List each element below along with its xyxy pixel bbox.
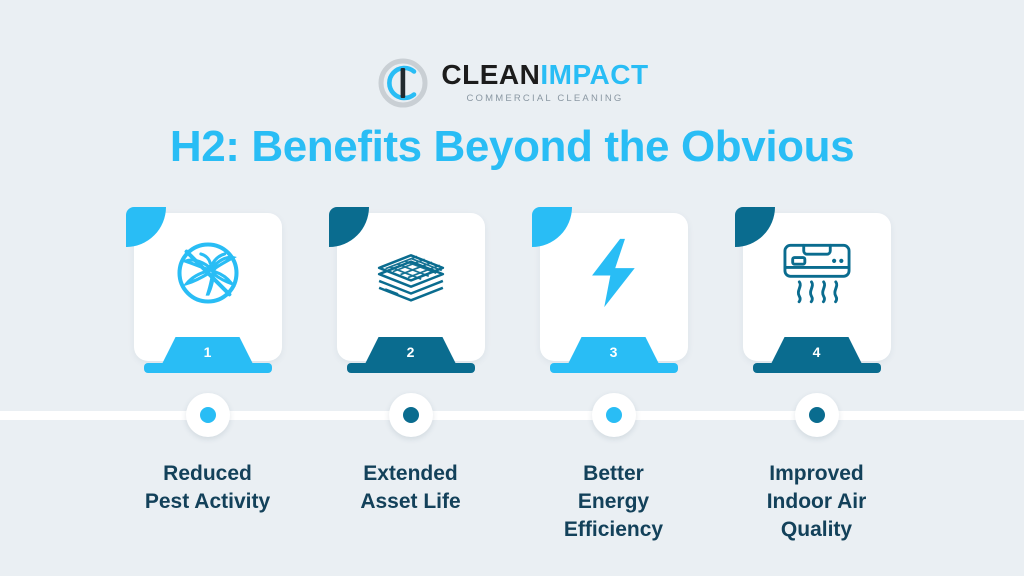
card-number: 2 — [407, 345, 415, 360]
no-mosquito-icon — [134, 213, 282, 333]
benefit-card-4[interactable]: 4 — [743, 213, 891, 361]
benefit-card-2[interactable]: 2 — [337, 213, 485, 361]
card-number-badge: 3 — [550, 335, 678, 373]
benefit-card-3[interactable]: 3 — [540, 213, 688, 361]
logo-name-clean: CLEAN — [441, 59, 540, 90]
timeline-dot-1-wrap — [134, 393, 282, 437]
card-number: 4 — [813, 345, 821, 360]
benefit-label-2: Extended Asset Life — [337, 460, 485, 544]
timeline-dot-4[interactable] — [795, 393, 839, 437]
card-number: 3 — [610, 345, 618, 360]
air-conditioner-icon — [743, 213, 891, 333]
timeline-dot-2[interactable] — [389, 393, 433, 437]
card-surface: 4 — [743, 213, 891, 361]
timeline-dot-core — [606, 407, 622, 423]
benefit-card-1[interactable]: 1 — [134, 213, 282, 361]
card-number: 1 — [204, 345, 212, 360]
timeline-dot-3[interactable] — [592, 393, 636, 437]
benefit-label-1: Reduced Pest Activity — [134, 460, 282, 544]
benefit-card-row: 1 — [0, 213, 1024, 361]
logo-wordmark: CLEANIMPACT COMMERCIAL CLEANING — [441, 61, 648, 106]
card-surface: 1 — [134, 213, 282, 361]
timeline-dot-3-wrap — [540, 393, 688, 437]
benefit-label-row: Reduced Pest Activity Extended Asset Lif… — [0, 460, 1024, 544]
slide-root: CLEANIMPACT COMMERCIAL CLEANING H2: Bene… — [0, 0, 1024, 576]
timeline-dot-core — [403, 407, 419, 423]
benefit-label-3: Better Energy Efficiency — [540, 460, 688, 544]
page-title: H2: Benefits Beyond the Obvious — [0, 122, 1024, 172]
cleanimpact-circle-logo — [375, 55, 431, 111]
timeline-dot-1[interactable] — [186, 393, 230, 437]
timeline-dot-core — [809, 407, 825, 423]
card-surface: 3 — [540, 213, 688, 361]
timeline-dot-row — [0, 393, 1024, 437]
timeline-dot-2-wrap — [337, 393, 485, 437]
card-surface: 2 — [337, 213, 485, 361]
lightning-bolt-icon — [540, 213, 688, 333]
timeline-dot-4-wrap — [743, 393, 891, 437]
timeline-dot-core — [200, 407, 216, 423]
brand-logo: CLEANIMPACT COMMERCIAL CLEANING — [0, 55, 1024, 111]
stacked-layers-icon — [337, 213, 485, 333]
card-number-badge: 1 — [144, 335, 272, 373]
card-number-badge: 4 — [753, 335, 881, 373]
logo-tagline: COMMERCIAL CLEANING — [466, 94, 623, 104]
benefit-label-4: Improved Indoor Air Quality — [743, 460, 891, 544]
logo-name-impact: IMPACT — [540, 59, 648, 90]
logo-name: CLEANIMPACT — [441, 61, 648, 89]
card-number-badge: 2 — [347, 335, 475, 373]
